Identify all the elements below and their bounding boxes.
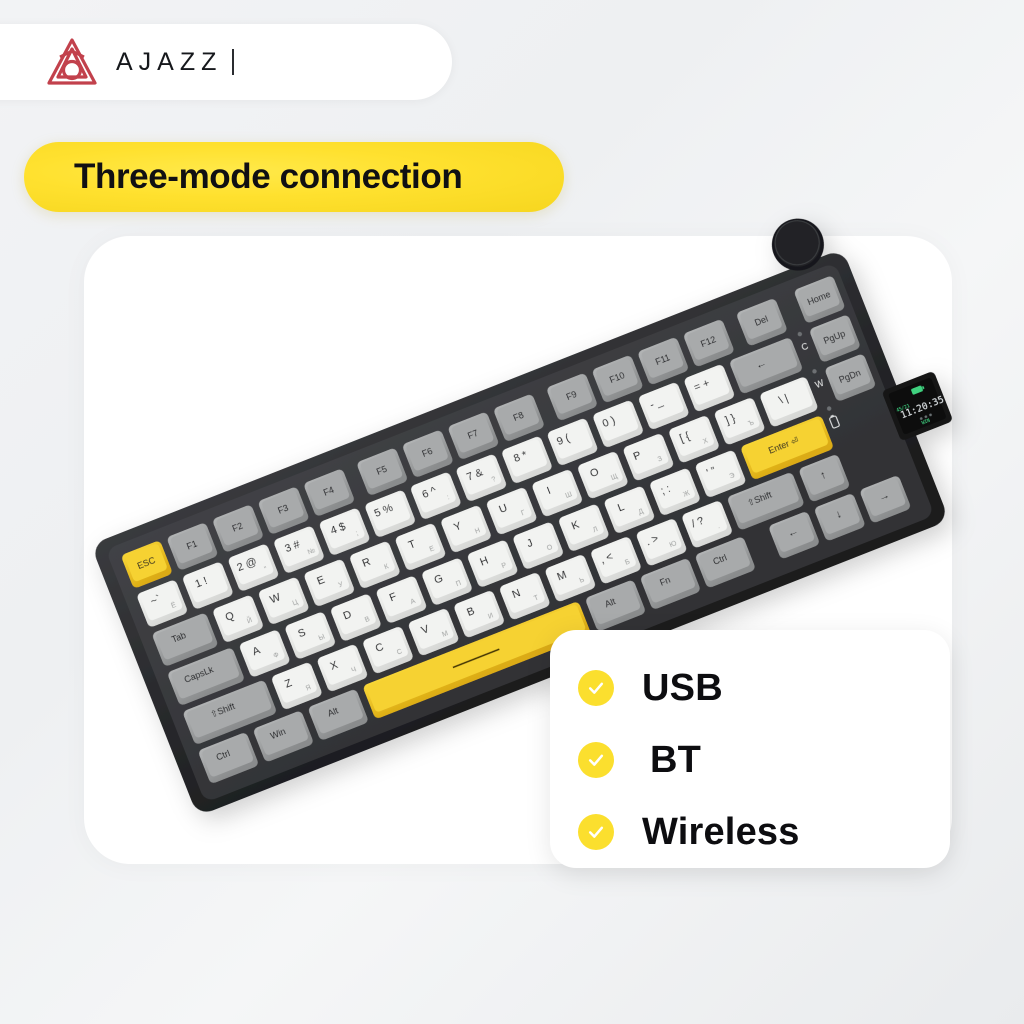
product-marketing-image: ESC F1 F2 F3 F4 F5 F6 F7 F8 F9 F10 F11 F…: [0, 0, 1024, 1024]
feature-item-bt: BT: [550, 724, 950, 796]
check-circle-icon: [578, 742, 614, 778]
brand-divider: [232, 49, 234, 75]
feature-label-bt: BT: [650, 739, 701, 782]
headline-text: Three-mode connection: [74, 157, 462, 197]
feature-label-wireless: Wireless: [642, 811, 800, 854]
feature-item-wireless: Wireless: [550, 796, 950, 868]
feature-list-card: USB BT Wireless: [550, 630, 950, 868]
headline-banner: Three-mode connection: [24, 142, 564, 212]
check-circle-icon: [578, 670, 614, 706]
brand-name: AJAZZ: [116, 48, 222, 77]
feature-label-usb: USB: [642, 667, 723, 710]
check-circle-icon: [578, 814, 614, 850]
ajazz-triangle-logo-icon: [46, 37, 98, 87]
brand-header-pill: AJAZZ: [0, 24, 452, 100]
feature-item-usb: USB: [550, 652, 950, 724]
